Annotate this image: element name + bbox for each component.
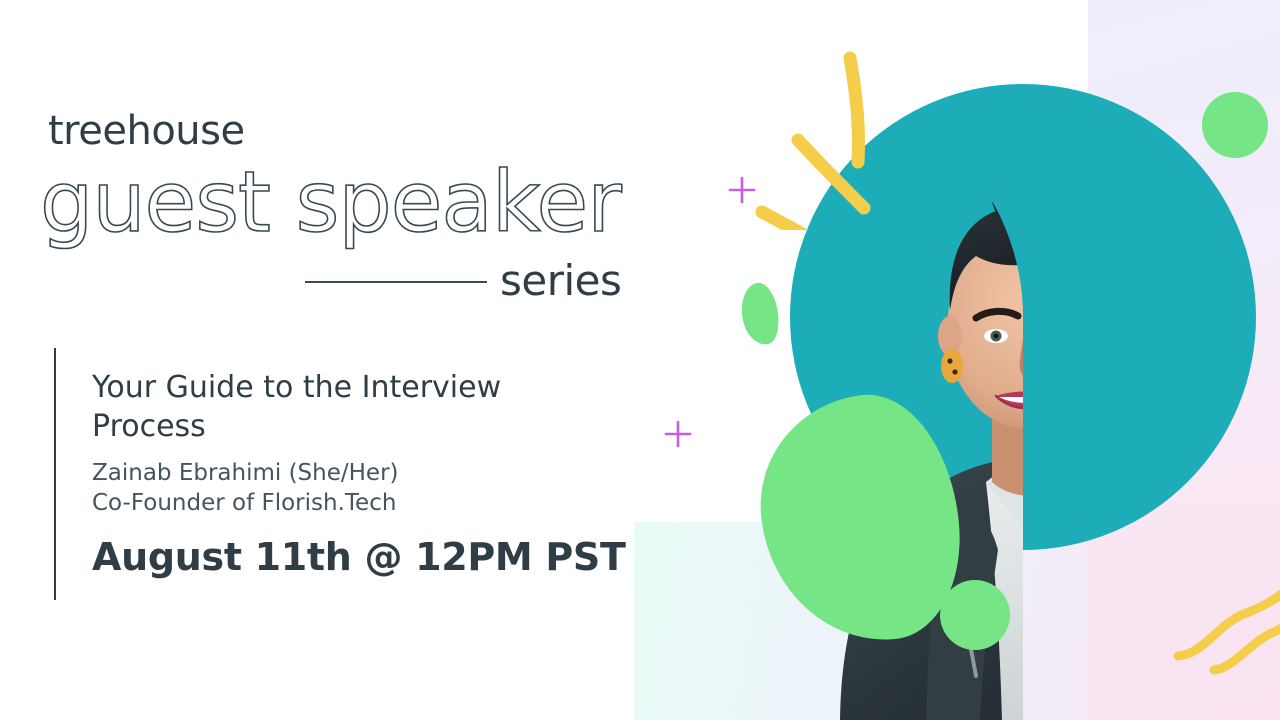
promo-graphic: treehouse guest speaker series Your Guid…	[0, 0, 1280, 720]
plus-cross-icon-upper	[726, 174, 758, 206]
talk-title: Your Guide to the Interview Process	[92, 368, 562, 446]
yellow-sunburst-icon	[740, 30, 890, 230]
event-datetime: August 11th @ 12PM PST	[92, 535, 626, 579]
series-rule	[305, 281, 487, 283]
yellow-wave-lines-icon	[1170, 580, 1280, 680]
brand-wordmark: treehouse	[48, 108, 245, 154]
speaker-name: Zainab Ebrahimi (She/Her)	[92, 460, 399, 486]
green-circle-bottom	[940, 580, 1010, 650]
plus-cross-icon-lower	[662, 418, 694, 450]
green-blob-small	[736, 280, 784, 348]
vertical-divider	[54, 348, 56, 600]
speaker-role: Co-Founder of Florish.Tech	[92, 490, 396, 516]
series-label: series	[500, 256, 621, 305]
display-headline: guest speaker	[40, 160, 621, 244]
